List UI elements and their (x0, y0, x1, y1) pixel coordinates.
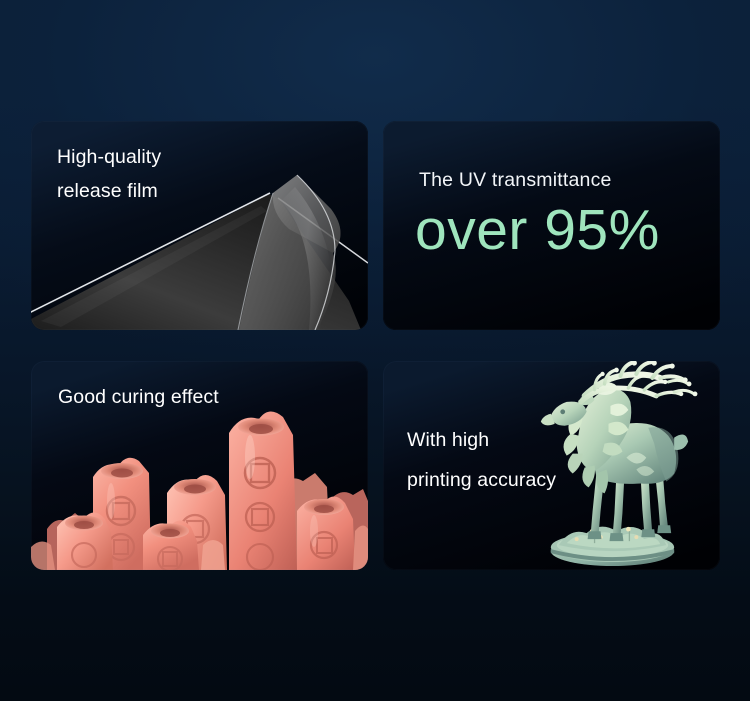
feature-card-grid: High-quality release film The UV transmi… (31, 121, 720, 570)
card-title-release-film: High-quality release film (57, 140, 161, 208)
resin-tower-2 (229, 411, 297, 570)
card-title-line-1: Good curing effect (58, 380, 219, 414)
card-title-printing-accuracy: With high printing accuracy (407, 420, 556, 500)
resin-tower-4 (57, 512, 113, 570)
stag-base (551, 527, 674, 566)
uv-transmittance-heading: The UV transmittance (419, 169, 612, 192)
resin-tower-6 (297, 496, 355, 570)
card-title-line-1: With high (407, 420, 556, 460)
promo-feature-panel: High-quality release film The UV transmi… (0, 0, 750, 701)
card-title-line-2: release film (57, 174, 161, 208)
uv-transmittance-value: over 95% (415, 202, 660, 259)
feature-card-uv-transmittance[interactable]: The UV transmittance over 95% (383, 121, 720, 330)
card-title-line-2: printing accuracy (407, 460, 556, 500)
feature-card-release-film[interactable]: High-quality release film (31, 121, 368, 330)
feature-card-printing-accuracy[interactable]: With high printing accuracy (383, 361, 720, 570)
card-title-line-1: High-quality (57, 140, 161, 174)
card-title-curing-effect: Good curing effect (58, 380, 219, 414)
feature-card-curing-effect[interactable]: Good curing effect (31, 361, 368, 570)
resin-tower-5 (143, 520, 199, 570)
